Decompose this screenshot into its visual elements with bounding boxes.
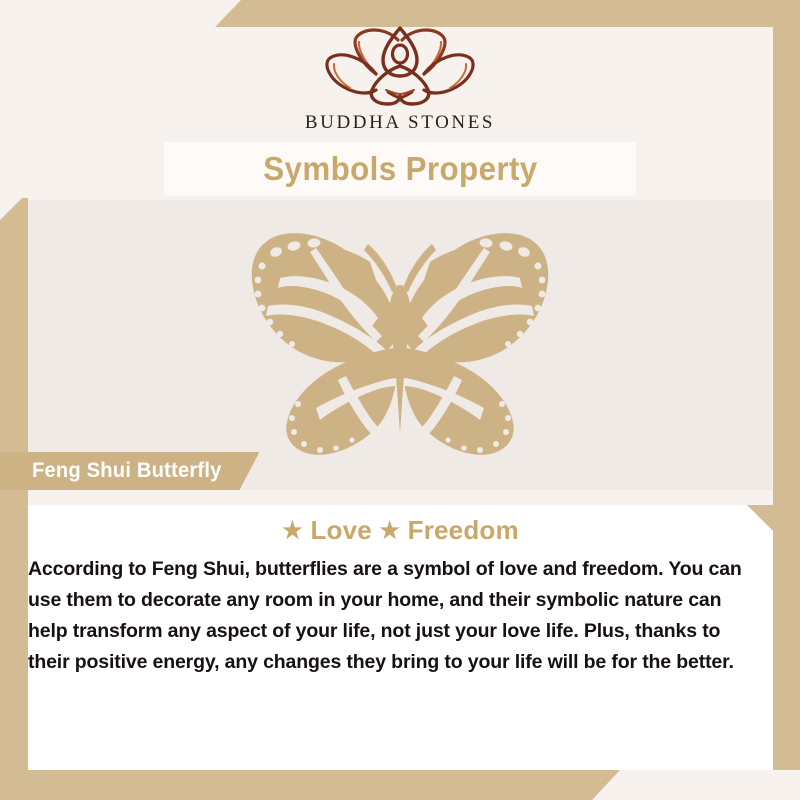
lotus-meditation-icon	[320, 24, 480, 108]
star-icon-left: ★	[282, 517, 303, 543]
page-title: Symbols Property	[263, 150, 537, 188]
subheading: ★ Love ★ Freedom	[28, 515, 773, 546]
page-title-band: Symbols Property	[164, 142, 636, 196]
feature-image-panel	[28, 200, 772, 490]
star-icon-middle: ★	[379, 517, 400, 543]
subheading-word-two: Freedom	[408, 515, 519, 545]
brand-name: BUDDHA STONES	[290, 112, 510, 134]
promo-banner: BUDDHA STONES Symbols Property	[0, 0, 800, 800]
header: BUDDHA STONES	[0, 0, 800, 142]
butterfly-icon	[220, 222, 580, 458]
subheading-word-one: Love	[310, 515, 371, 545]
feature-label: Feng Shui Butterfly	[32, 459, 222, 483]
description-paragraph: According to Feng Shui, butterflies are …	[28, 554, 773, 678]
frame-band-bottom	[0, 770, 620, 800]
brand-logo: BUDDHA STONES	[290, 24, 510, 134]
feature-label-banner: Feng Shui Butterfly	[0, 452, 259, 490]
frame-band-left	[0, 198, 28, 800]
description-card: ★ Love ★ Freedom According to Feng Shui,…	[28, 505, 773, 770]
